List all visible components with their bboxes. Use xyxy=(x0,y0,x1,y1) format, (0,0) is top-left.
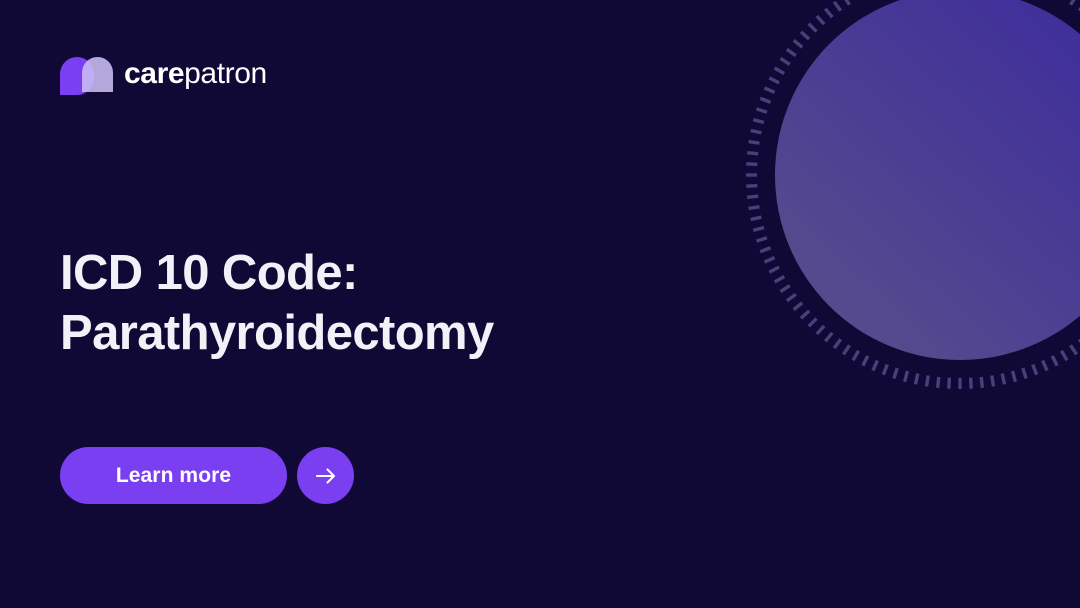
carepatron-logo-mark xyxy=(60,53,114,95)
ring-tick-marks xyxy=(746,0,1080,389)
page-title-line-2: Parathyroidectomy xyxy=(60,303,700,363)
logo-word-light: patron xyxy=(184,57,267,90)
cta-group: Learn more xyxy=(60,447,354,504)
logo-wordmark: carepatron xyxy=(124,59,267,89)
learn-more-arrow-button[interactable] xyxy=(297,447,354,504)
carepatron-logo[interactable]: carepatron xyxy=(60,52,267,96)
decorative-circle xyxy=(775,0,1080,360)
logo-word-bold: care xyxy=(124,57,184,90)
logo-droplet-right xyxy=(82,57,113,92)
page-title-line-1: ICD 10 Code: xyxy=(60,243,700,303)
arrow-right-icon xyxy=(313,463,339,489)
decorative-circle-graphic xyxy=(745,0,1080,390)
learn-more-button[interactable]: Learn more xyxy=(60,447,287,504)
banner: carepatron ICD 10 Code: Parathyroidectom… xyxy=(0,0,1080,608)
page-title: ICD 10 Code: Parathyroidectomy xyxy=(60,243,700,363)
